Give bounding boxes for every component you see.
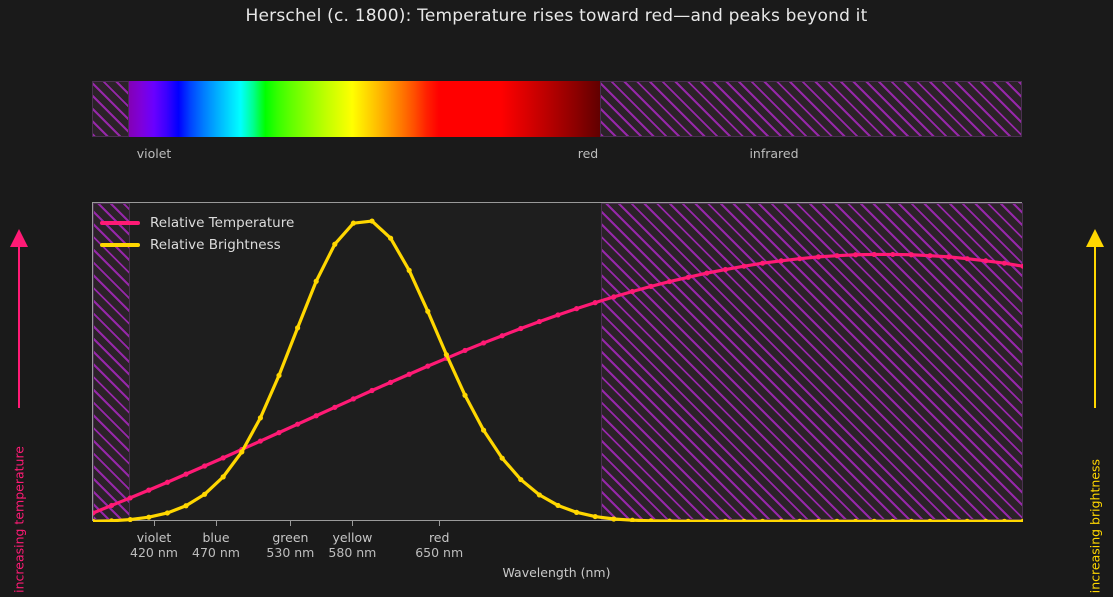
legend-label-brightness: Relative Brightness	[150, 237, 281, 253]
x-tick-mark-violet	[154, 521, 155, 526]
x-tick-label-yellow: yellow580 nm	[328, 530, 376, 560]
x-tick-wavelength: 420 nm	[130, 545, 178, 560]
legend-label-temperature: Relative Temperature	[150, 215, 294, 231]
x-tick-label-blue: blue470 nm	[192, 530, 240, 560]
spectrum-band-infrared	[600, 81, 1022, 137]
right-axis-label: increasing brightness	[1088, 459, 1103, 593]
x-tick-color-name: yellow	[328, 530, 376, 545]
x-tick-label-violet: violet420 nm	[130, 530, 178, 560]
chart-title: Herschel (c. 1800): Temperature rises to…	[0, 6, 1113, 26]
left-axis-temperature: increasing temperature	[2, 228, 36, 593]
spectrum-bar	[92, 81, 1022, 137]
spectrum-label-infrared: infrared	[749, 146, 798, 161]
x-tick-color-name: blue	[192, 530, 240, 545]
left-axis-label: increasing temperature	[12, 446, 27, 593]
legend-entry-temperature: Relative Temperature	[100, 212, 294, 234]
x-tick-label-green: green530 nm	[266, 530, 314, 560]
x-tick-mark-yellow	[352, 521, 353, 526]
chart-figure: Herschel (c. 1800): Temperature rises to…	[0, 0, 1113, 597]
spectrum-label-violet: violet	[137, 146, 172, 161]
x-tick-wavelength: 530 nm	[266, 545, 314, 560]
x-tick-color-name: green	[266, 530, 314, 545]
x-tick-label-red: red650 nm	[415, 530, 463, 560]
spectrum-band-visible	[129, 81, 600, 137]
chart-legend: Relative Temperature Relative Brightness	[100, 212, 294, 256]
x-axis-label: Wavelength (nm)	[0, 565, 1113, 580]
x-tick-mark-green	[290, 521, 291, 526]
legend-swatch-temperature	[100, 221, 140, 225]
x-tick-color-name: red	[415, 530, 463, 545]
x-tick-wavelength: 580 nm	[328, 545, 376, 560]
x-tick-mark-red	[439, 521, 440, 526]
spectrum-band-ultraviolet	[92, 81, 129, 137]
x-tick-wavelength: 650 nm	[415, 545, 463, 560]
x-tick-mark-blue	[216, 521, 217, 526]
right-axis-brightness: increasing brightness	[1078, 228, 1112, 593]
legend-swatch-brightness	[100, 243, 140, 247]
spectrum-label-red: red	[578, 146, 599, 161]
x-tick-color-name: violet	[130, 530, 178, 545]
legend-entry-brightness: Relative Brightness	[100, 234, 294, 256]
x-tick-wavelength: 470 nm	[192, 545, 240, 560]
